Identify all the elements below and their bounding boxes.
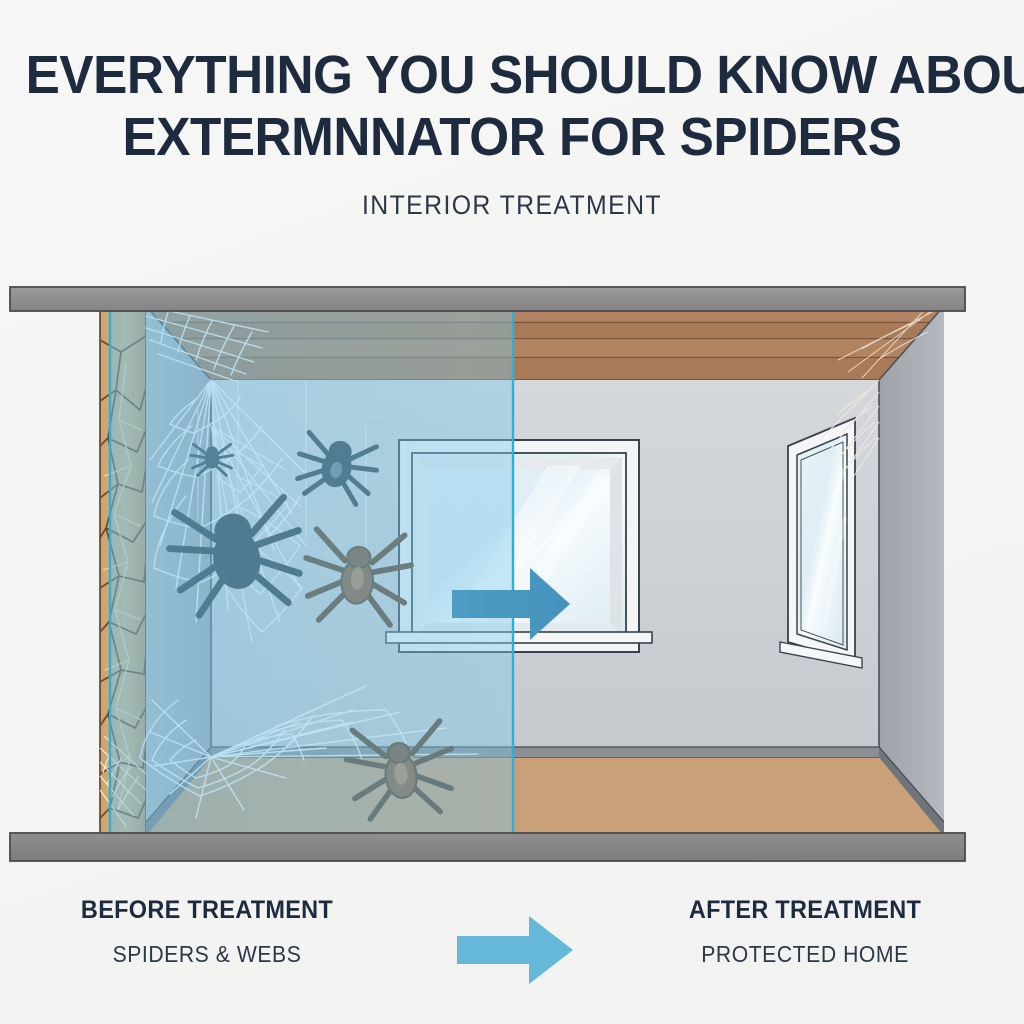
footer-before: BEFORE TREATMENT SPIDERS & WEBS [42, 896, 372, 968]
footer-before-sub: SPIDERS & WEBS [55, 941, 359, 968]
right-side-wall [879, 306, 944, 836]
footer-after-heading: AFTER TREATMENT [650, 896, 960, 925]
floor-slab [10, 833, 965, 861]
room-illustration [0, 270, 1024, 880]
footer-arrow-icon [455, 914, 575, 986]
footer-after-sub: PROTECTED HOME [653, 941, 957, 968]
title-line-2: EXTERMNNATOR FOR SPIDERS [26, 106, 999, 168]
footer-before-heading: BEFORE TREATMENT [52, 896, 362, 925]
title-line-1: EVERYTHING YOU SHOULD KNOW ABOUT [26, 44, 999, 106]
ceiling-slab [10, 287, 965, 311]
title-block: EVERYTHING YOU SHOULD KNOW ABOUT EXTERMN… [0, 44, 1024, 221]
subtitle: INTERIOR TREATMENT [41, 190, 983, 221]
right-window [780, 418, 862, 668]
before-overlay [110, 300, 513, 840]
footer-after: AFTER TREATMENT PROTECTED HOME [640, 896, 970, 968]
infographic-page: EVERYTHING YOU SHOULD KNOW ABOUT EXTERMN… [0, 0, 1024, 1024]
footer-legend: BEFORE TREATMENT SPIDERS & WEBS AFTER TR… [0, 896, 1024, 1006]
